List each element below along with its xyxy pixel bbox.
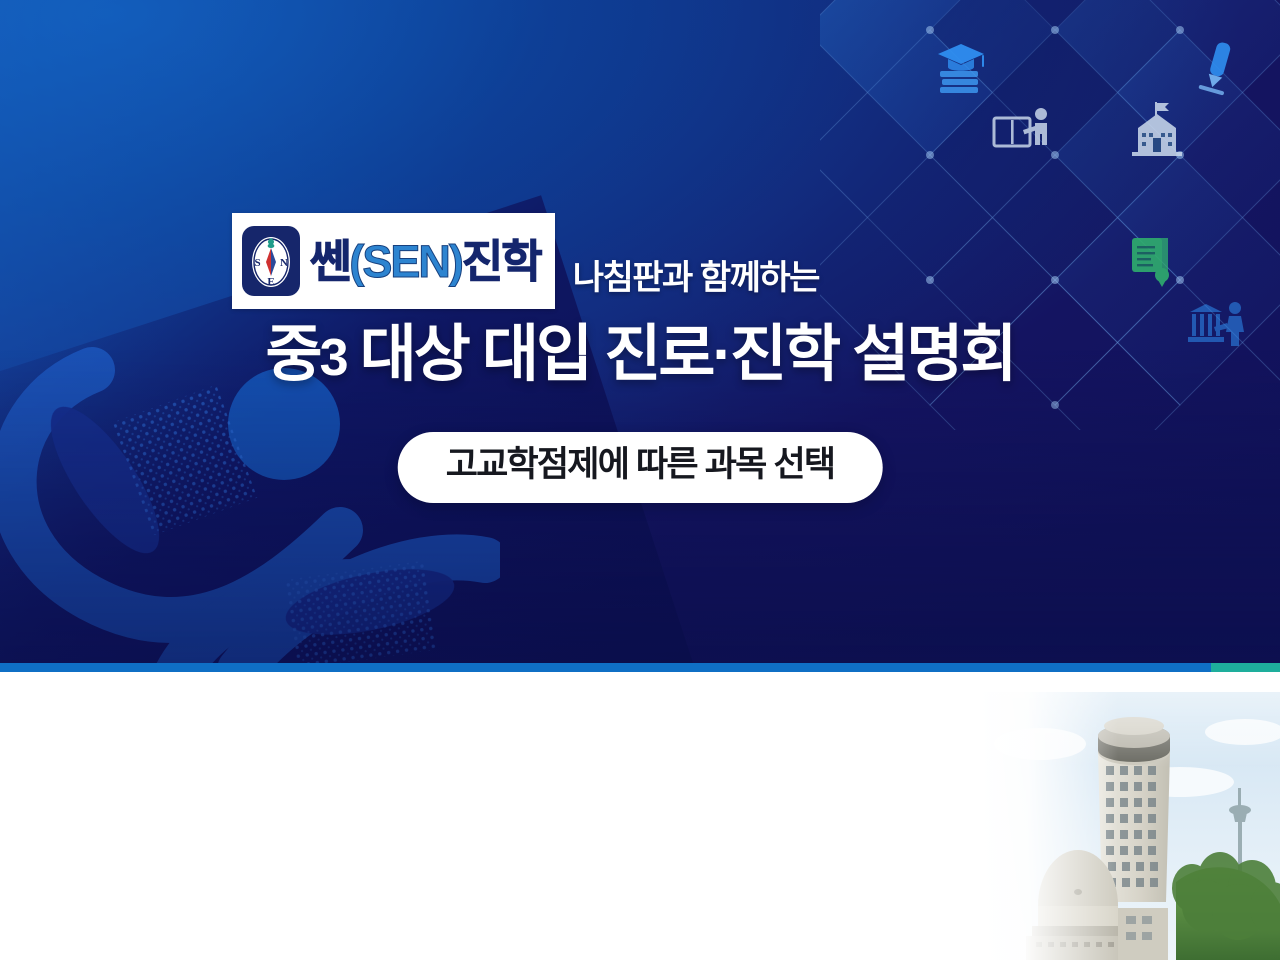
promo-slide: S N E 쎈(SEN)진학 나침판과 함께하는 중3 대상 대입 진로·진학 … [0, 0, 1280, 960]
brand-word-sen: (SEN) [349, 236, 462, 287]
brand-word-suffix: 진학 [462, 236, 541, 287]
certificate-document-icon [1128, 234, 1180, 288]
subtitle-text: 고교학점제에 따른 과목 선택 [446, 447, 835, 484]
pencil-icon [1196, 38, 1240, 96]
sen-jinhak-logo: S N E 쎈(SEN)진학 [232, 213, 555, 309]
accent-strip [0, 663, 1280, 672]
teacher-at-board-icon [992, 106, 1054, 156]
seri-building-photo [980, 692, 1280, 960]
brand-word-prefix: 쎈 [310, 236, 349, 287]
footer-area: 서울특별시교육청교육연구정보원 SEOUL EDUCATION RESEARCH… [0, 674, 1280, 960]
accent-strip-teal [1211, 663, 1280, 672]
graduation-cap-on-books-icon [932, 38, 990, 96]
tagline: 나침판과 함께하는 [573, 250, 819, 299]
svg-text:E: E [267, 276, 274, 288]
brand-wordmark: 쎈(SEN)진학 [310, 239, 541, 284]
title-rest: 대상 대입 진로·진학 설명회 [345, 320, 1014, 389]
brand-row: S N E 쎈(SEN)진학 나침판과 함께하는 [232, 213, 819, 309]
compass-icon: S N E [242, 226, 300, 296]
accent-strip-blue [0, 663, 1211, 672]
subtitle-badge: 고교학점제에 따른 과목 선택 [398, 432, 883, 503]
page-title: 중3 대상 대입 진로·진학 설명회 [0, 322, 1280, 387]
hero-banner: S N E 쎈(SEN)진학 나침판과 함께하는 중3 대상 대입 진로·진학 … [0, 0, 1280, 672]
svg-text:S: S [254, 257, 260, 269]
school-building-icon [1128, 100, 1186, 162]
title-prefix: 중 [266, 320, 320, 389]
svg-text:N: N [280, 257, 288, 269]
title-grade: 3 [320, 329, 346, 387]
